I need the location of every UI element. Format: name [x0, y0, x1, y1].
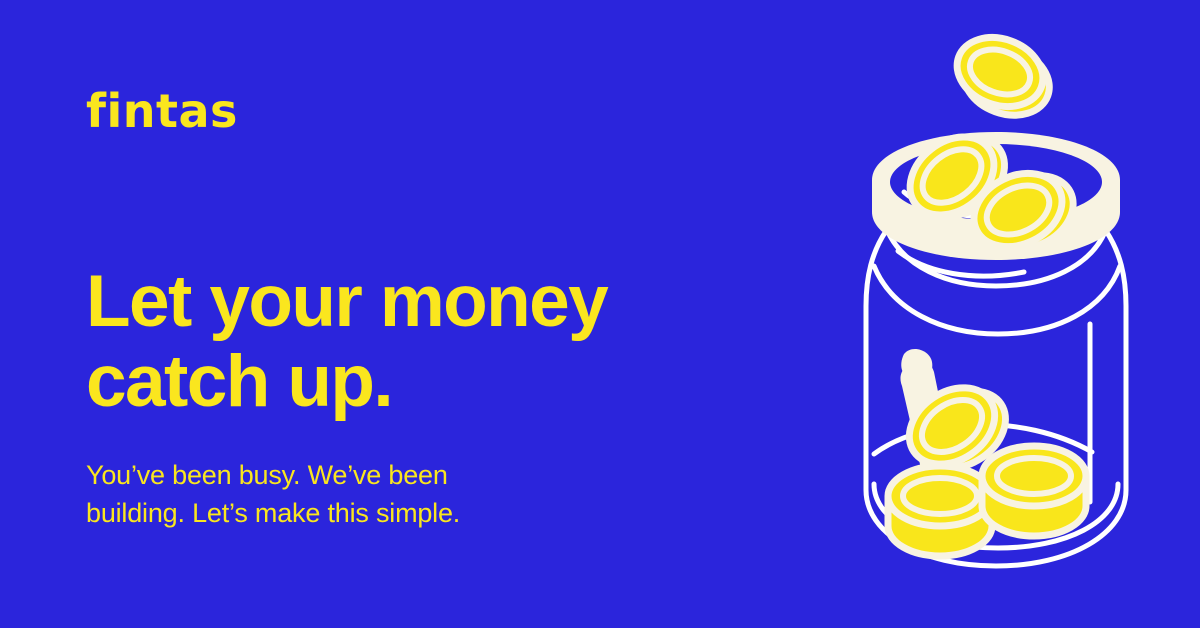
promo-banner: fintas Let your money catch up. You’ve b… [0, 0, 1200, 628]
subtitle-line-2: building. Let’s make this simple. [86, 494, 606, 532]
headline-line-1: Let your money [86, 262, 786, 342]
subtitle-line-1: You’ve been busy. We’ve been [86, 456, 606, 494]
brand-logo[interactable]: fintas [86, 88, 238, 134]
coin-inside-bottom-left [888, 466, 992, 556]
coin-inside-bottom-right [982, 446, 1086, 536]
text-content-column: fintas Let your money catch up. You’ve b… [86, 0, 806, 628]
page-title: Let your money catch up. [86, 262, 786, 422]
coin-jar-illustration [852, 14, 1152, 614]
page-subtitle: You’ve been busy. We’ve been building. L… [86, 456, 606, 532]
jar-left-highlight-cap [901, 349, 932, 380]
coin-falling-top [945, 26, 1061, 127]
headline-line-2: catch up. [86, 342, 786, 422]
